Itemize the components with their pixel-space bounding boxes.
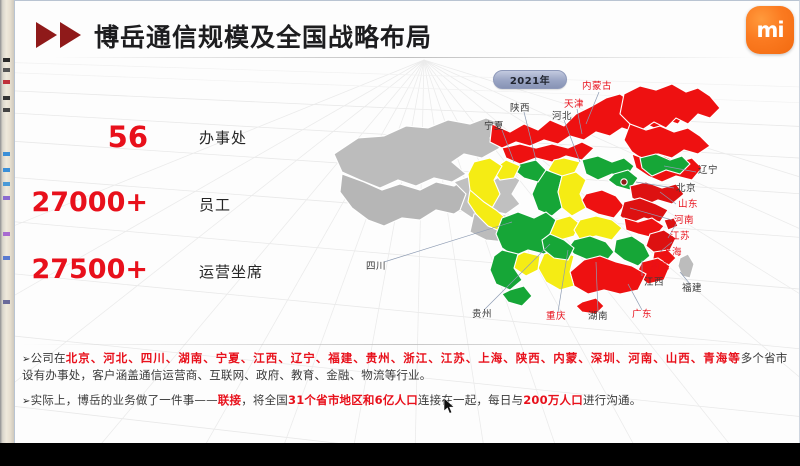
bullet-item-2: ➢实际上，博岳的业务做了一件事——联接，将全国31个省市地区和6亿人口连接在一起… bbox=[22, 392, 792, 409]
map-label-shanghai: 上海 bbox=[662, 248, 682, 258]
stat-label: 办事处 bbox=[199, 127, 247, 148]
map-label-jiangsu: 江苏 bbox=[670, 232, 690, 242]
mouse-cursor-icon bbox=[444, 398, 455, 414]
header-divider bbox=[54, 57, 754, 58]
sliver-mark bbox=[3, 58, 10, 62]
bullet-2-highlight-3: 200万人口 bbox=[523, 393, 583, 407]
sliver-mark bbox=[3, 68, 10, 72]
bullet-marker-icon: ➢ bbox=[22, 396, 31, 407]
sliver-mark bbox=[3, 232, 10, 236]
map-label-ningxia: 宁夏 bbox=[484, 122, 504, 132]
map-label-sichuan: 四川 bbox=[366, 262, 386, 272]
bullet-2-lead: 实际上，博岳的业务做了一件事—— bbox=[31, 393, 218, 407]
sliver-mark bbox=[3, 196, 10, 200]
sliver-mark bbox=[3, 108, 10, 112]
map-label-fujian: 福建 bbox=[682, 284, 702, 294]
bullet-2-tail: 进行沟通。 bbox=[583, 393, 642, 407]
stat-row: 27500+ 运营坐席 bbox=[14, 254, 344, 321]
map-label-chongqing: 重庆 bbox=[546, 312, 566, 322]
sliver-mark bbox=[3, 152, 10, 156]
stat-value: 27500+ bbox=[31, 254, 148, 285]
map-label-zhejiang: 浙江 bbox=[650, 262, 670, 272]
bullet-divider bbox=[22, 344, 782, 345]
screen-root: 博岳通信规模及全国战略布局 mi 56 办事处 27000+ 员工 27500+… bbox=[0, 0, 800, 466]
bottom-letterbox-bar bbox=[0, 443, 800, 466]
bullet-1-lead: 公司在 bbox=[31, 351, 66, 365]
bullet-2-mid-1: ，将全国 bbox=[241, 393, 288, 407]
stat-label: 运营坐席 bbox=[199, 261, 263, 282]
map-label-hunan: 湖南 bbox=[588, 312, 608, 322]
map-label-beijing: 北京 bbox=[676, 184, 696, 194]
bullet-1-provinces: 北京、河北、四川、湖南、宁夏、江西、辽宁、福建、贵州、浙江、江苏、上海、陕西、内… bbox=[66, 351, 741, 365]
map-label-liaoning: 辽宁 bbox=[698, 166, 718, 176]
background-window-sliver[interactable] bbox=[0, 0, 14, 443]
map-label-hebei: 河北 bbox=[552, 112, 572, 122]
sliver-mark bbox=[3, 96, 10, 100]
stat-value: 27000+ bbox=[31, 187, 148, 218]
map-label-shandong: 山东 bbox=[678, 200, 698, 210]
stat-value: 56 bbox=[108, 120, 148, 154]
bullet-2-highlight-1: 联接 bbox=[218, 393, 241, 407]
double-triangle-right-icon bbox=[36, 22, 81, 48]
bullet-2-highlight-2: 31个省市地区和6亿人口 bbox=[288, 393, 418, 407]
sliver-mark bbox=[3, 80, 10, 84]
stat-row: 27000+ 员工 bbox=[14, 187, 344, 254]
xiaomi-mi-logo: mi bbox=[746, 6, 794, 54]
presentation-slide[interactable]: 博岳通信规模及全国战略布局 mi 56 办事处 27000+ 员工 27500+… bbox=[14, 0, 800, 443]
china-strategy-map[interactable]: 2021年 bbox=[324, 62, 744, 342]
sliver-mark bbox=[3, 182, 10, 186]
page-title: 博岳通信规模及全国战略布局 bbox=[94, 18, 432, 54]
stats-block: 56 办事处 27000+ 员工 27500+ 运营坐席 bbox=[14, 120, 344, 321]
map-label-shaanxi: 陕西 bbox=[510, 104, 530, 114]
sliver-mark bbox=[3, 168, 10, 172]
slide-header: 博岳通信规模及全国战略布局 mi bbox=[14, 0, 800, 60]
bullet-block: ➢公司在北京、河北、四川、湖南、宁夏、江西、辽宁、福建、贵州、浙江、江苏、上海、… bbox=[14, 342, 800, 442]
sliver-mark bbox=[3, 256, 10, 260]
bullet-item-1: ➢公司在北京、河北、四川、湖南、宁夏、江西、辽宁、福建、贵州、浙江、江苏、上海、… bbox=[22, 350, 792, 385]
map-label-neimenggu: 内蒙古 bbox=[582, 82, 612, 92]
map-label-guizhou: 贵州 bbox=[472, 310, 492, 320]
map-label-henan: 河南 bbox=[674, 216, 694, 226]
map-label-guangdong: 广东 bbox=[632, 310, 652, 320]
map-label-jiangxi: 江西 bbox=[644, 278, 664, 288]
bullet-2-mid-2: 连接在一起，每日与 bbox=[418, 393, 523, 407]
stat-label: 员工 bbox=[199, 194, 231, 215]
logo-text: mi bbox=[756, 18, 783, 42]
bullet-marker-icon: ➢ bbox=[22, 354, 31, 365]
sliver-mark bbox=[3, 300, 10, 304]
map-label-tianjin: 天津 bbox=[564, 100, 584, 110]
stat-row: 56 办事处 bbox=[14, 120, 344, 187]
